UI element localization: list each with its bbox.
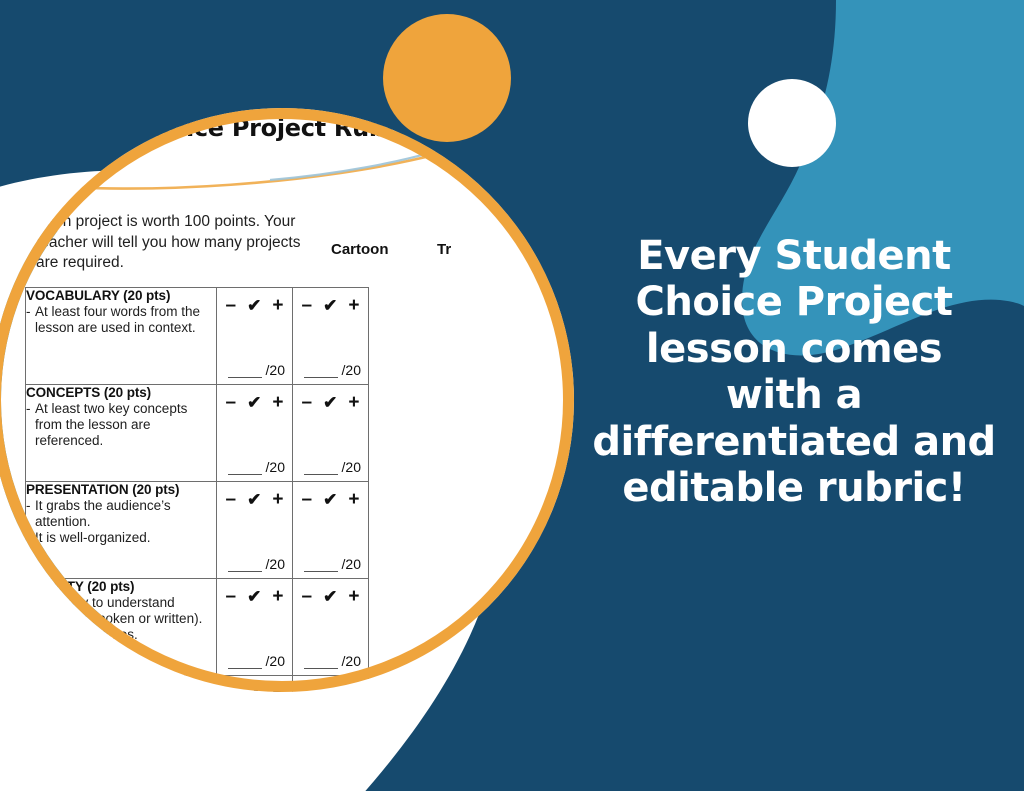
criterion-cell: PRESENTATION (20 pts) - It grabs the aud…	[26, 482, 217, 579]
score-marks[interactable]: – ✔ +	[293, 586, 368, 608]
table-row: CLARITY (20 pts) - It is easy to underst…	[26, 579, 369, 676]
table-row: CONCEPTS (20 pts) - At least two key con…	[26, 385, 369, 482]
plus-mark[interactable]: +	[272, 586, 283, 608]
rubric-document: udent Choice Project Rubric Each project…	[0, 108, 574, 692]
score-cell[interactable]: – ✔ + /20	[293, 579, 369, 676]
minus-mark[interactable]: –	[302, 392, 313, 414]
criterion-items: - It grabs the audience’s attention. - I…	[26, 498, 216, 547]
check-mark[interactable]: ✔	[247, 490, 261, 510]
out-of-label: /20	[342, 362, 361, 378]
bullet-dash: -	[26, 498, 35, 530]
swoosh-decoration	[20, 150, 440, 198]
plus-mark[interactable]: +	[348, 295, 359, 317]
table-row: PRESENTATION (20 pts) - It grabs the aud…	[26, 482, 369, 579]
check-mark[interactable]: ✔	[323, 684, 337, 692]
minus-mark[interactable]: –	[226, 489, 237, 511]
score-cell[interactable]: – ✔ + /20	[217, 579, 293, 676]
plus-mark[interactable]: +	[272, 392, 283, 414]
criterion-name: CLARITY (20 pts)	[26, 579, 216, 594]
plus-mark[interactable]: +	[348, 683, 359, 692]
slide-canvas: udent Choice Project Rubric Each project…	[0, 0, 1024, 791]
criterion-name: CURACY (20 pts)	[26, 676, 216, 691]
score-cell[interactable]: – ✔ + /20	[217, 482, 293, 579]
rubric-table: VOCABULARY (20 pts) - At least four word…	[25, 287, 369, 692]
column-header-cartoon: Cartoon	[331, 241, 389, 258]
criterion-cell: VOCABULARY (20 pts) - At least four word…	[26, 288, 217, 385]
score-input-blank[interactable]	[228, 656, 262, 669]
check-mark[interactable]: ✔	[247, 587, 261, 607]
criterion-cell: CURACY (20 pts)	[26, 676, 217, 693]
magnifier-lens: udent Choice Project Rubric Each project…	[0, 108, 574, 692]
score-marks[interactable]: – ✔ +	[293, 683, 368, 692]
table-row: CURACY (20 pts) – ✔ +	[26, 676, 369, 693]
criterion-item: It grabs the audience’s attention.	[35, 498, 216, 530]
plus-mark[interactable]: +	[272, 683, 283, 692]
score-cell[interactable]: – ✔ + /20	[293, 385, 369, 482]
criterion-cell: CONCEPTS (20 pts) - At least two key con…	[26, 385, 217, 482]
score-blank-row[interactable]: /20	[217, 459, 292, 475]
score-input-blank[interactable]	[228, 462, 262, 475]
score-input-blank[interactable]	[304, 559, 338, 572]
check-mark[interactable]: ✔	[323, 393, 337, 413]
score-cell[interactable]: – ✔ + /20	[217, 385, 293, 482]
out-of-label: /20	[266, 653, 285, 669]
score-marks[interactable]: – ✔ +	[217, 392, 292, 414]
minus-mark[interactable]: –	[226, 683, 237, 692]
score-blank-row[interactable]: /20	[293, 459, 368, 475]
out-of-label: /20	[342, 459, 361, 475]
score-cell[interactable]: – ✔ + /20	[293, 482, 369, 579]
minus-mark[interactable]: –	[226, 295, 237, 317]
criterion-name: PRESENTATION (20 pts)	[26, 482, 216, 497]
bullet-dash: -	[26, 401, 35, 450]
criterion-name: CONCEPTS (20 pts)	[26, 385, 216, 400]
score-blank-row[interactable]: /20	[293, 362, 368, 378]
score-blank-row[interactable]: /20	[293, 653, 368, 669]
plus-mark[interactable]: +	[272, 295, 283, 317]
plus-mark[interactable]: +	[348, 392, 359, 414]
score-input-blank[interactable]	[228, 559, 262, 572]
bullet-dash: -	[26, 530, 35, 546]
criterion-item: It is easy to understand (whether spoken…	[35, 595, 216, 627]
score-input-blank[interactable]	[304, 365, 338, 378]
score-input-blank[interactable]	[304, 462, 338, 475]
criterion-items: - At least four words from the lesson ar…	[26, 304, 216, 336]
bullet-dash: -	[26, 595, 35, 627]
table-row: VOCABULARY (20 pts) - At least four word…	[26, 288, 369, 385]
score-marks[interactable]: – ✔ +	[293, 295, 368, 317]
minus-mark[interactable]: –	[302, 295, 313, 317]
out-of-label: /20	[266, 459, 285, 475]
check-mark[interactable]: ✔	[323, 587, 337, 607]
score-cell[interactable]: – ✔ + /20	[217, 288, 293, 385]
minus-mark[interactable]: –	[226, 586, 237, 608]
minus-mark[interactable]: –	[302, 683, 313, 692]
white-circle-decoration	[748, 79, 836, 167]
criterion-item: It is free of typos.	[35, 627, 138, 643]
intro-text: Each project is worth 100 points. Your t…	[36, 212, 316, 274]
score-marks[interactable]: – ✔ +	[217, 489, 292, 511]
out-of-label: /20	[266, 556, 285, 572]
minus-mark[interactable]: –	[226, 392, 237, 414]
bullet-dash: -	[26, 627, 35, 643]
check-mark[interactable]: ✔	[247, 296, 261, 316]
column-header-second: Tr	[437, 241, 451, 258]
criterion-items: - It is easy to understand (whether spok…	[26, 595, 216, 644]
out-of-label: /20	[342, 653, 361, 669]
score-blank-row[interactable]: /20	[217, 362, 292, 378]
score-input-blank[interactable]	[228, 365, 262, 378]
plus-mark[interactable]: +	[348, 489, 359, 511]
criterion-item: At least two key concepts from the lesso…	[35, 401, 216, 450]
criterion-item: It is well-organized.	[35, 530, 151, 546]
score-blank-row[interactable]: /20	[217, 556, 292, 572]
plus-mark[interactable]: +	[348, 586, 359, 608]
score-blank-row[interactable]: /20	[217, 653, 292, 669]
score-marks[interactable]: – ✔ +	[217, 295, 292, 317]
criterion-item: At least four words from the lesson are …	[35, 304, 216, 336]
minus-mark[interactable]: –	[302, 489, 313, 511]
document-title: udent Choice Project Rubric	[50, 115, 470, 142]
bullet-dash: -	[26, 304, 35, 336]
headline-text: Every Student Choice Project lesson come…	[592, 233, 996, 511]
check-mark[interactable]: ✔	[323, 296, 337, 316]
score-cell[interactable]: – ✔ + /20	[293, 676, 369, 693]
check-mark[interactable]: ✔	[323, 490, 337, 510]
out-of-label: /20	[266, 362, 285, 378]
minus-mark[interactable]: –	[302, 586, 313, 608]
score-marks[interactable]: – ✔ +	[293, 392, 368, 414]
criterion-cell: CLARITY (20 pts) - It is easy to underst…	[26, 579, 217, 676]
score-marks[interactable]: – ✔ +	[217, 586, 292, 608]
check-mark[interactable]: ✔	[247, 393, 261, 413]
score-blank-row[interactable]: /20	[293, 556, 368, 572]
plus-mark[interactable]: +	[272, 489, 283, 511]
score-input-blank[interactable]	[304, 656, 338, 669]
score-cell[interactable]: – ✔ + /20	[217, 676, 293, 693]
out-of-label: /20	[342, 556, 361, 572]
check-mark[interactable]: ✔	[247, 684, 261, 692]
criterion-items: - At least two key concepts from the les…	[26, 401, 216, 450]
score-marks[interactable]: – ✔ +	[293, 489, 368, 511]
score-cell[interactable]: – ✔ + /20	[293, 288, 369, 385]
criterion-name: VOCABULARY (20 pts)	[26, 288, 216, 303]
score-marks[interactable]: – ✔ +	[217, 683, 292, 692]
